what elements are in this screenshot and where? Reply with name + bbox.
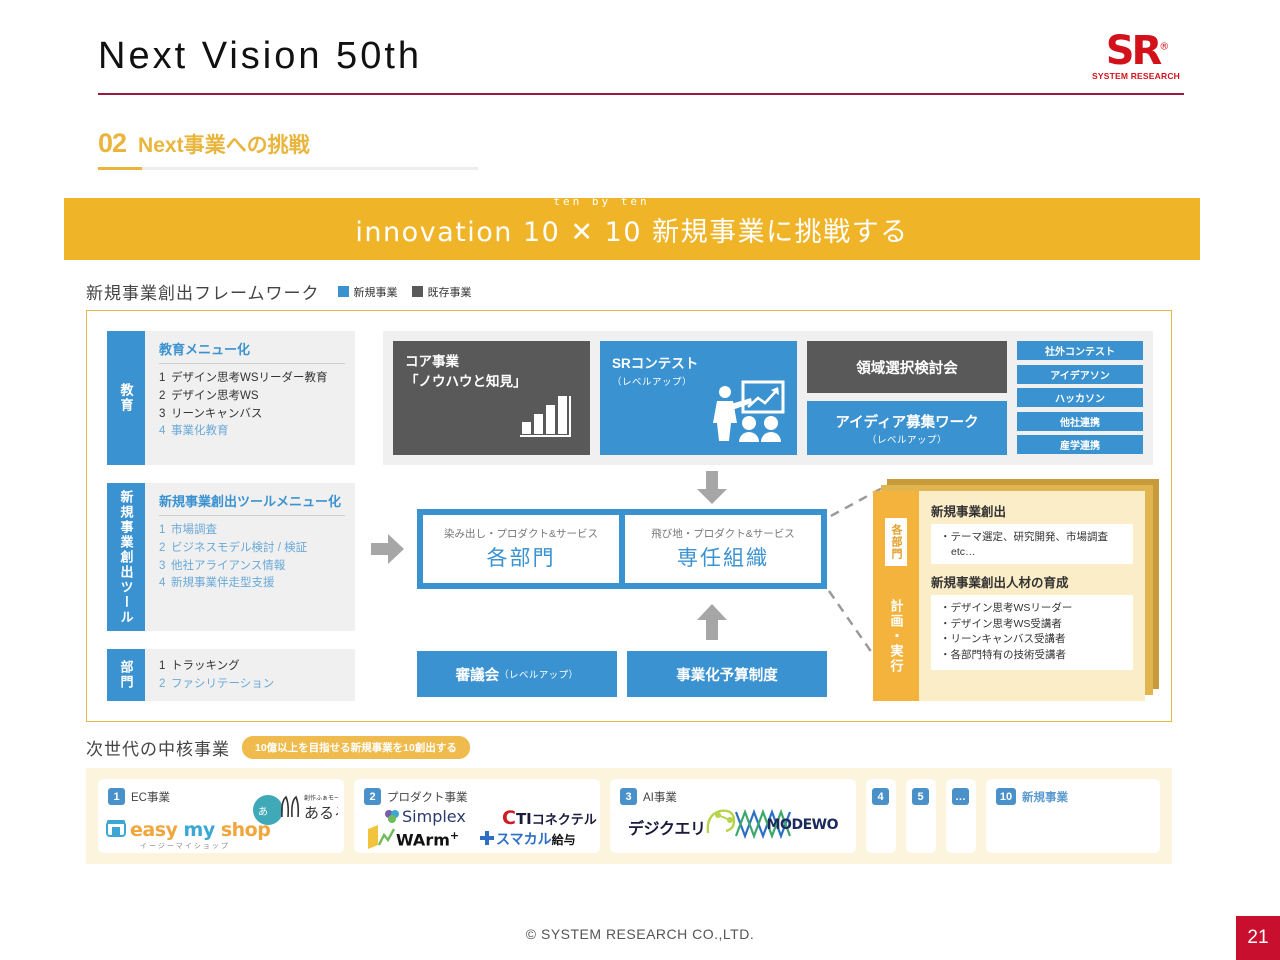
deliberation-main: 審議会 <box>456 664 500 685</box>
chip-item: 社外コンテスト <box>1017 341 1143 360</box>
block-list-item: 3他社アライアンス情報 <box>159 558 345 576</box>
deliberation-box: 審議会（レベルアップ） <box>417 651 617 697</box>
chip-item: 他社連携 <box>1017 412 1143 431</box>
logo-aruru: あ 創作ふぁモール あるる <box>246 789 338 834</box>
nextgen-card-10[interactable]: 10 新規事業 <box>986 779 1160 853</box>
nextgen-card-ai[interactable]: 3 AI事業 デジクエリ MODEWO <box>610 779 856 853</box>
card-label: プロダクト事業 <box>387 789 468 805</box>
card-number-badge: 5 <box>912 788 929 805</box>
section-label: Next事業への挑戦 <box>138 129 310 159</box>
panel-list-continuation: etc… <box>940 546 1124 558</box>
card-label: AI事業 <box>643 789 677 805</box>
core-business-line1: コア事業 <box>405 352 578 372</box>
block-heading: 教育メニュー化 <box>159 339 345 364</box>
svg-text:あるる: あるる <box>304 804 338 822</box>
nextgen-header: 次世代の中核事業 10億以上を目指せる新規事業を10創出する <box>86 735 470 760</box>
block-tab-label: 新規事業創出ツール <box>107 483 145 631</box>
logo-modewo: MODEWO <box>767 817 838 833</box>
nextgen-card-product[interactable]: 2 プロダクト事業 Simplex WArm+ CTIコネクテル スマカル給与 <box>354 779 600 853</box>
budget-system-box: 事業化予算制度 <box>627 651 827 697</box>
storefront-icon <box>106 817 126 842</box>
legend-item-new: 新規事業 <box>338 284 398 300</box>
nextgen-card-ec[interactable]: 1 EC事業 easy my shop イージーマイショップ あ 創作ふぁモール <box>98 779 344 853</box>
panel-group1-heading: 新規事業創出 <box>931 501 1133 520</box>
nextgen-card-more[interactable]: … <box>946 779 976 853</box>
chip-item: アイデアソン <box>1017 365 1143 384</box>
innovation-banner: ten by ten innovation 10 ✕ 10 新規事業に挑戦する <box>64 198 1200 260</box>
plus-icon <box>480 831 494 850</box>
card-number-badge: 3 <box>620 788 637 805</box>
card-number-badge: … <box>952 788 969 805</box>
logo-simplex: Simplex <box>402 807 466 826</box>
block-list-item: 4新規事業伴走型支援 <box>159 575 345 593</box>
logo-subtitle: SYSTEM RESEARCH <box>1088 71 1184 81</box>
panel-list-item: ・リーンキャンバス受講者 <box>940 632 1124 648</box>
panel-group2-heading: 新規事業創出人材の育成 <box>931 572 1133 591</box>
panel-group2-card: ・デザイン思考WSリーダー ・デザイン思考WS受講者 ・リーンキャンバス受講者 … <box>931 595 1133 670</box>
svg-text:あ: あ <box>258 806 268 818</box>
block-list-item: 2ファシリテーション <box>159 676 345 694</box>
core-business-line2: 「ノウハウと知見」 <box>405 372 578 392</box>
nextgen-card-row: 1 EC事業 easy my shop イージーマイショップ あ 創作ふぁモール <box>86 768 1172 864</box>
arrow-down-icon <box>695 471 729 510</box>
execution-panel: 各部門 計画・実行 新規事業創出 ・テーマ選定、研究開発、市場調査 etc… 新… <box>873 491 1145 701</box>
logo-easy-my-shop-ruby: イージーマイショップ <box>140 841 230 851</box>
logo-warm: WArm+ <box>396 829 459 849</box>
mid-business-group: 染み出し・プロダクト&サービス 各部門 飛び地・プロダクト&サービス 専任組織 <box>417 509 827 589</box>
arrow-right-icon <box>371 533 405 570</box>
panel-list-item: ・テーマ選定、研究開発、市場調査 <box>940 530 1124 546</box>
deliberation-sub: （レベルアップ） <box>499 667 578 681</box>
framework-block-education: 教育 教育メニュー化 1デザイン思考WSリーダー教育 2デザイン思考WS 3リー… <box>107 331 355 465</box>
mid-card-dedicated-org: 飛び地・プロダクト&サービス 専任組織 <box>625 515 821 583</box>
page-title: Next Vision 50th <box>98 36 1184 78</box>
legend-label: 既存事業 <box>428 284 472 300</box>
framework-block-department: 部門 1トラッキング 2ファシリテーション <box>107 649 355 701</box>
nextgen-card-5[interactable]: 5 <box>906 779 936 853</box>
block-list-item: 2ビジネスモデル検討 / 検証 <box>159 540 345 558</box>
idea-sub-label: （レベルアップ） <box>867 432 947 446</box>
logo-sumakaru-payroll: スマカル給与 <box>496 829 576 849</box>
section-heading: 02 Next事業への挑戦 <box>98 128 1184 170</box>
mid-card-main: 各部門 <box>487 542 556 572</box>
slide-header: Next Vision 50th SR® SYSTEM RESEARCH <box>98 36 1184 95</box>
logo-digikueri: デジクエリ <box>628 815 706 839</box>
bar-chart-icon <box>518 394 576 443</box>
mid-card-main: 専任組織 <box>677 542 769 572</box>
logo-cti-connectel: CTIコネクテル <box>502 807 597 829</box>
block-tab-label: 教育 <box>107 331 145 465</box>
page-number: 21 <box>1236 916 1280 960</box>
legend: 新規事業 既存事業 <box>338 284 472 300</box>
card-label: EC事業 <box>131 789 170 805</box>
arrow-up-icon <box>695 603 729 646</box>
svg-text:創作ふぁモール: 創作ふぁモール <box>304 794 338 802</box>
sr-contest-box: SRコンテスト （レベルアップ） <box>600 341 797 455</box>
idea-main-label: アイディア募集ワーク <box>835 411 978 432</box>
banner-ruby: ten by ten <box>553 195 649 208</box>
legend-swatch-icon <box>412 286 423 297</box>
footer-copyright: © SYSTEM RESEARCH CO.,LTD. <box>0 926 1280 942</box>
card-number-badge: 2 <box>364 788 381 805</box>
mid-card-department: 染み出し・プロダクト&サービス 各部門 <box>423 515 619 583</box>
block-list-item: 1デザイン思考WSリーダー教育 <box>159 370 345 388</box>
legend-swatch-icon <box>338 286 349 297</box>
execution-panel-tab: 各部門 計画・実行 <box>873 491 919 701</box>
block-list-item: 3リーンキャンバス <box>159 406 345 424</box>
section-underline <box>98 167 478 170</box>
nextgen-title: 次世代の中核事業 <box>86 735 230 760</box>
block-heading: 新規事業創出ツールメニュー化 <box>159 491 345 516</box>
framework-diagram: 教育 教育メニュー化 1デザイン思考WSリーダー教育 2デザイン思考WS 3リー… <box>86 310 1172 722</box>
card-number-badge: 1 <box>108 788 125 805</box>
panel-tab-chip: 各部門 <box>885 518 907 566</box>
chip-item: ハッカソン <box>1017 388 1143 407</box>
legend-label: 新規事業 <box>354 284 398 300</box>
framework-top-strip: コア事業 「ノウハウと知見」 SRコンテスト （レベルアップ） <box>383 331 1153 465</box>
card-label: 新規事業 <box>1022 789 1068 805</box>
sr-contest-title: SRコンテスト <box>612 352 785 372</box>
chip-list: 社外コンテスト アイデアソン ハッカソン 他社連携 産学連携 <box>1017 341 1143 459</box>
panel-list-item: ・各部門特有の技術受講者 <box>940 648 1124 664</box>
registered-icon: ® <box>1159 42 1166 53</box>
circuit-icon <box>704 807 738 842</box>
banner-text: innovation 10 ✕ 10 新規事業に挑戦する <box>355 210 908 249</box>
chip-item: 産学連携 <box>1017 435 1143 454</box>
block-list-item: 1トラッキング <box>159 658 345 676</box>
framework-block-tools: 新規事業創出ツール 新規事業創出ツールメニュー化 1市場調査 2ビジネスモデル検… <box>107 483 355 631</box>
legend-item-existing: 既存事業 <box>412 284 472 300</box>
block-list-item: 1市場調査 <box>159 522 345 540</box>
nextgen-card-4[interactable]: 4 <box>866 779 896 853</box>
title-divider <box>98 93 1184 95</box>
block-list-item: 2デザイン思考WS <box>159 388 345 406</box>
warm-mark-icon <box>366 823 396 856</box>
section-number: 02 <box>98 128 126 159</box>
mid-card-sub: 飛び地・プロダクト&サービス <box>651 526 795 541</box>
card-number-badge: 10 <box>996 788 1016 805</box>
logo-mark: SR® <box>1088 32 1184 70</box>
budget-main: 事業化予算制度 <box>676 664 778 685</box>
panel-list-item: ・デザイン思考WS受講者 <box>940 617 1124 633</box>
block-tab-label: 部門 <box>107 649 145 701</box>
mid-card-sub: 染み出し・プロダクト&サービス <box>444 526 598 541</box>
card-number-badge: 4 <box>872 788 889 805</box>
framework-header: 新規事業創出フレームワーク 新規事業 既存事業 <box>86 279 472 304</box>
core-business-box: コア事業 「ノウハウと知見」 <box>393 341 590 455</box>
nextgen-badge: 10億以上を目指せる新規事業を10創出する <box>242 736 470 759</box>
block-list-item: 4事業化教育 <box>159 423 345 441</box>
presentation-icon <box>709 380 787 447</box>
framework-title: 新規事業創出フレームワーク <box>86 279 320 304</box>
company-logo: SR® SYSTEM RESEARCH <box>1088 32 1184 81</box>
panel-group1-card: ・テーマ選定、研究開発、市場調査 etc… <box>931 524 1133 564</box>
idea-collection-box: アイディア募集ワーク （レベルアップ） <box>807 401 1007 455</box>
domain-selection-box: 領域選択検討会 <box>807 341 1007 393</box>
panel-tab-text: 計画・実行 <box>887 599 906 674</box>
panel-list-item: ・デザイン思考WSリーダー <box>940 601 1124 617</box>
